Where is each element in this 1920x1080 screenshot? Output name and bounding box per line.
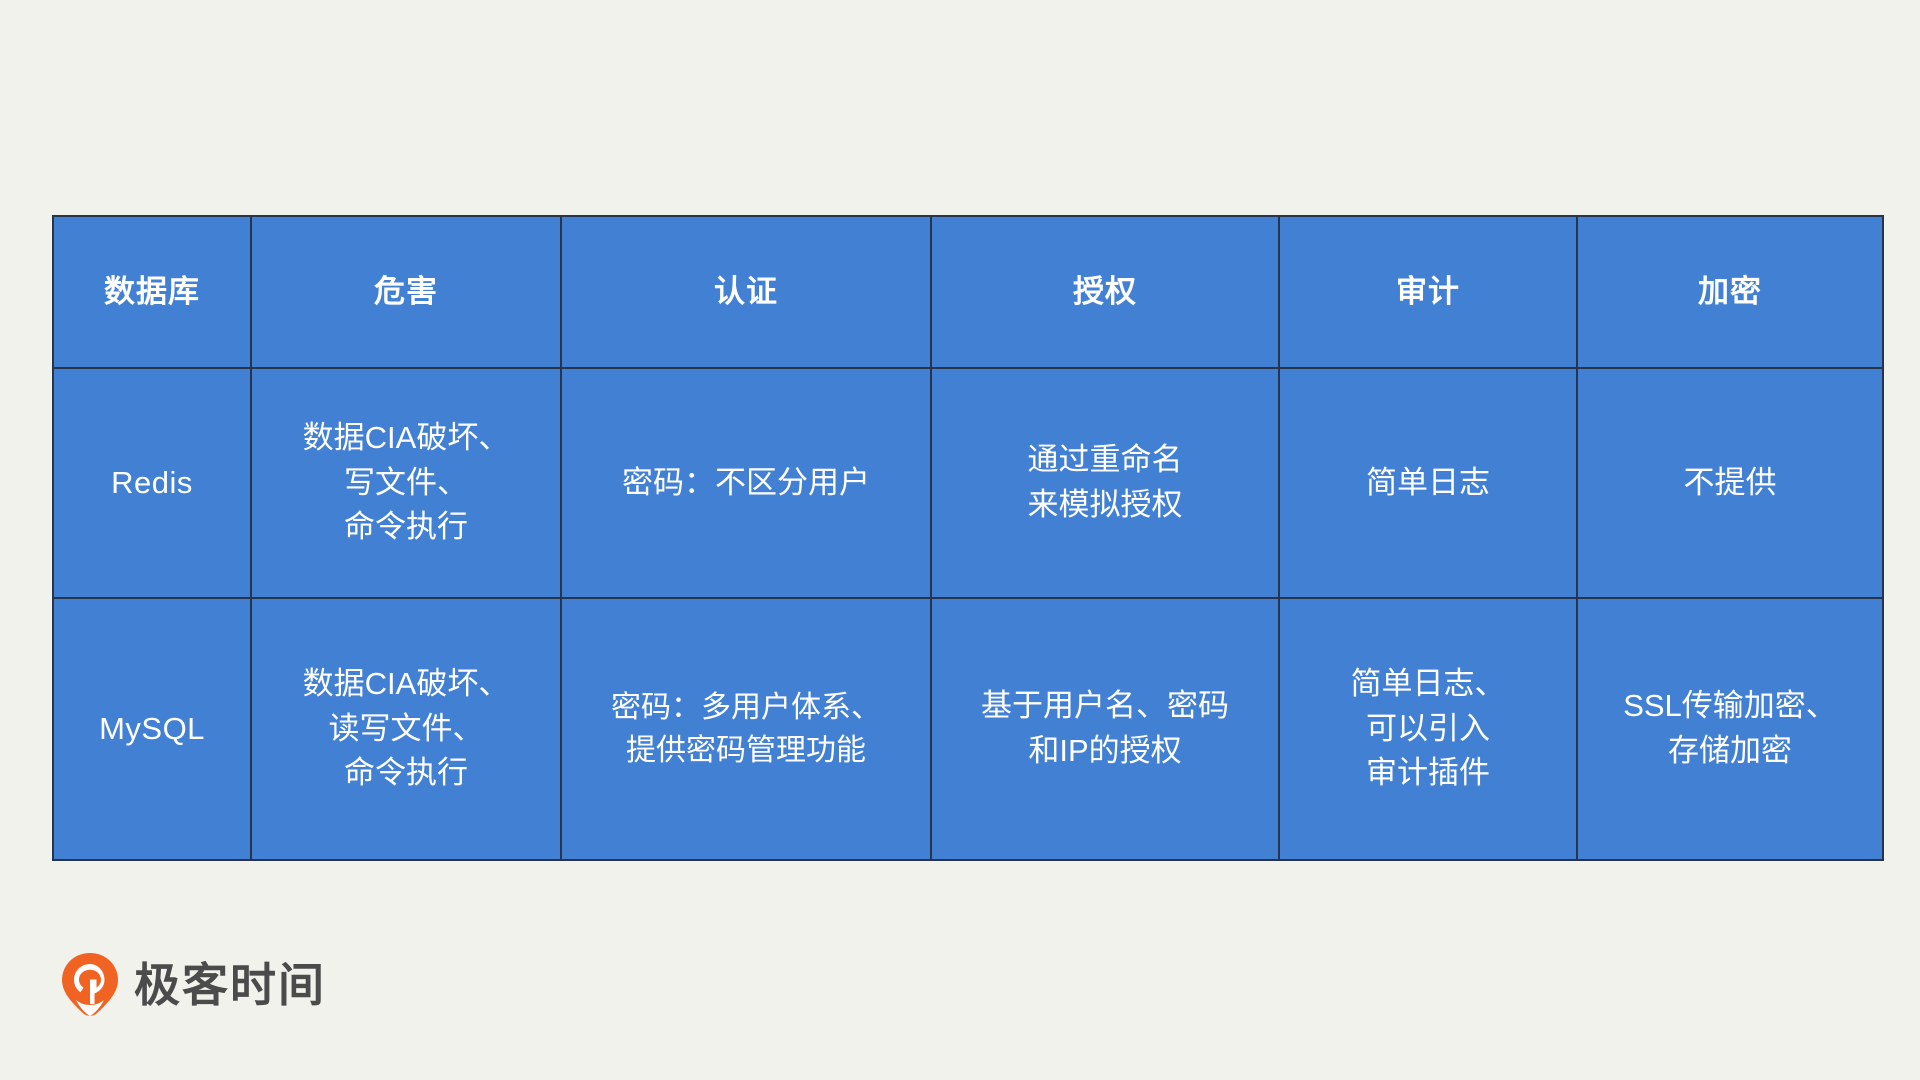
column-header-database: 数据库 [53,216,251,368]
geektime-drop-icon [60,952,120,1018]
cell-line: 和IP的授权 [940,729,1270,774]
table-row: Redis 数据CIA破坏、 写文件、 命令执行 密码：不区分用户 [53,368,1883,598]
table-row: MySQL 数据CIA破坏、 读写文件、 命令执行 密码：多用户体系、 提供密码… [53,598,1883,860]
cell-line: 命令执行 [260,751,552,796]
cell-line: 存储加密 [1586,729,1874,774]
cell-line: 来模拟授权 [940,483,1270,528]
cell-line: 密码：多用户体系、 [570,686,922,730]
database-security-comparison-table: 数据库 危害 认证 授权 审计 加密 Redis 数据CIA破坏、 写文件、 命 [52,215,1884,861]
cell-line: 通过重命名 [940,438,1270,483]
cell-audit-mysql: 简单日志、 可以引入 审计插件 [1279,598,1577,860]
cell-authentication-mysql: 密码：多用户体系、 提供密码管理功能 [561,598,931,860]
brand-logo-text: 极客时间 [134,962,326,1008]
cell-audit-redis: 简单日志 [1279,368,1577,598]
cell-line: 写文件、 [260,461,552,506]
column-header-authorization: 授权 [931,216,1279,368]
cell-authorization-redis: 通过重命名 来模拟授权 [931,368,1279,598]
cell-line: 简单日志 [1288,461,1568,506]
cell-line: 读写文件、 [260,707,552,752]
cell-encryption-redis: 不提供 [1577,368,1883,598]
cell-authorization-mysql: 基于用户名、密码 和IP的授权 [931,598,1279,860]
cell-line: 提供密码管理功能 [570,729,922,773]
cell-line: 数据CIA破坏、 [260,662,552,707]
cell-line: 不提供 [1586,461,1874,506]
table-header-row: 数据库 危害 认证 授权 审计 加密 [53,216,1883,368]
column-header-harm: 危害 [251,216,561,368]
slide-root: 数据库 危害 认证 授权 审计 加密 Redis 数据CIA破坏、 写文件、 命 [0,0,1920,1080]
table-body: Redis 数据CIA破坏、 写文件、 命令执行 密码：不区分用户 [53,368,1883,860]
cell-database-mysql: MySQL [53,598,251,860]
cell-line: SSL传输加密、 [1586,684,1874,729]
column-header-encryption: 加密 [1577,216,1883,368]
column-header-authentication: 认证 [561,216,931,368]
cell-line: 命令执行 [260,505,552,550]
cell-line: 密码：不区分用户 [570,461,922,506]
cell-authentication-redis: 密码：不区分用户 [561,368,931,598]
cell-line: 基于用户名、密码 [940,684,1270,729]
cell-line: 可以引入 [1288,707,1568,752]
cell-harm-redis: 数据CIA破坏、 写文件、 命令执行 [251,368,561,598]
cell-line: 审计插件 [1288,751,1568,796]
cell-encryption-mysql: SSL传输加密、 存储加密 [1577,598,1883,860]
brand-logo: 极客时间 [60,952,326,1018]
cell-line: 数据CIA破坏、 [260,416,552,461]
column-header-audit: 审计 [1279,216,1577,368]
table-header: 数据库 危害 认证 授权 审计 加密 [53,216,1883,368]
cell-harm-mysql: 数据CIA破坏、 读写文件、 命令执行 [251,598,561,860]
cell-database-redis: Redis [53,368,251,598]
comparison-table-container: 数据库 危害 认证 授权 审计 加密 Redis 数据CIA破坏、 写文件、 命 [52,215,1882,861]
cell-line: 简单日志、 [1288,662,1568,707]
